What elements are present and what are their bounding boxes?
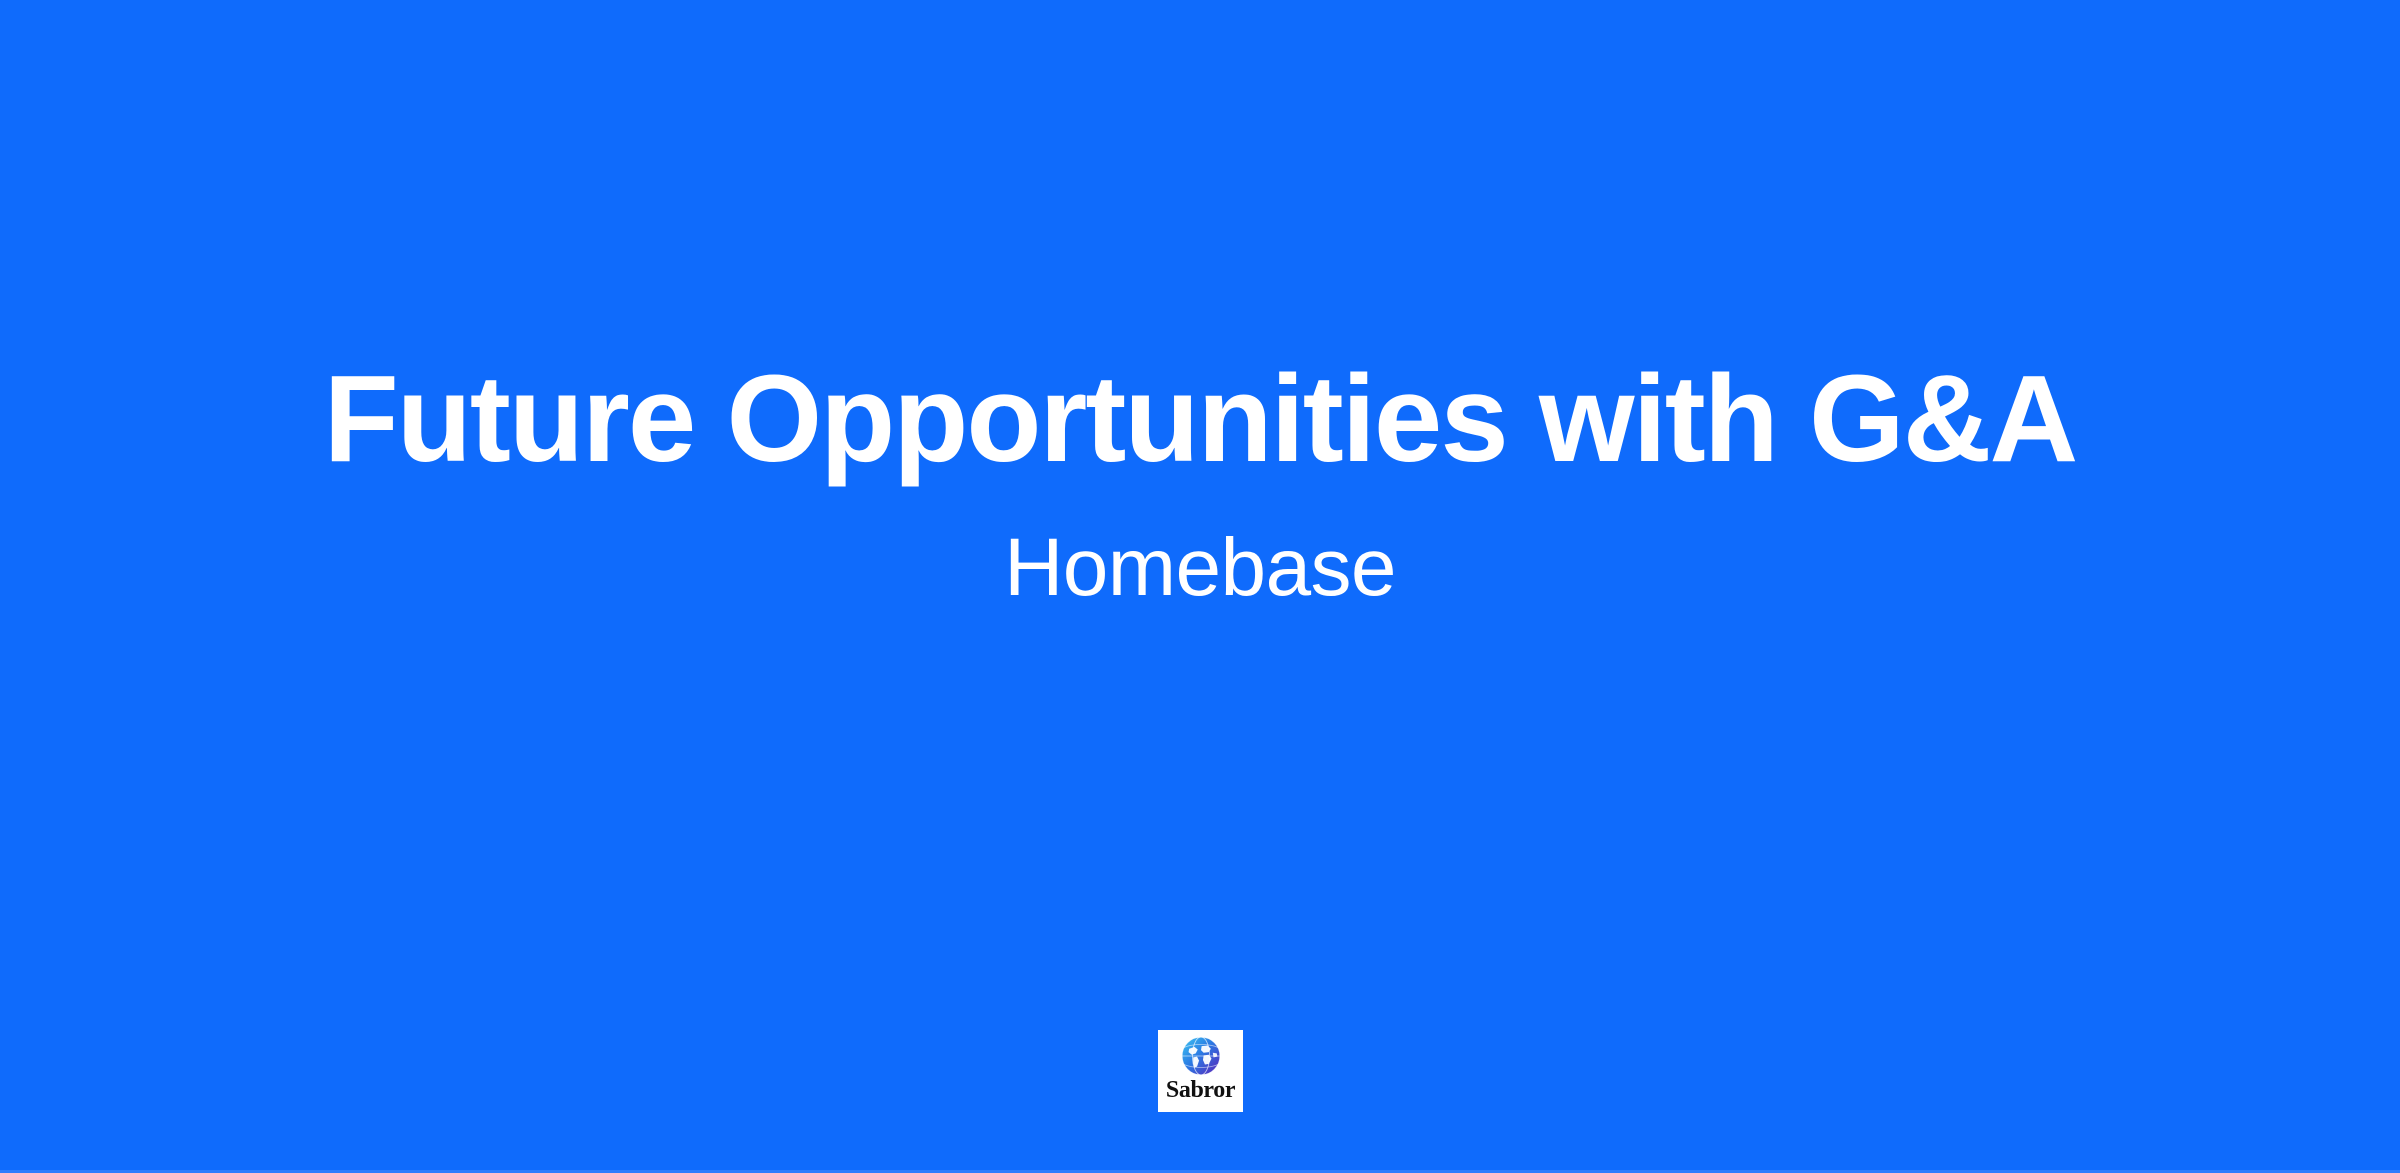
brand-logo-badge: Sabror (1158, 1030, 1243, 1112)
brand-wordmark: Sabror (1166, 1078, 1235, 1102)
presentation-slide: Future Opportunities with G&A Homebase (0, 0, 2400, 1173)
globe-icon (1180, 1035, 1222, 1077)
page-title: Future Opportunities with G&A (324, 358, 2077, 481)
slide-content: Future Opportunities with G&A Homebase (0, 0, 2400, 1030)
slide-subtitle: Homebase (1004, 527, 1396, 609)
